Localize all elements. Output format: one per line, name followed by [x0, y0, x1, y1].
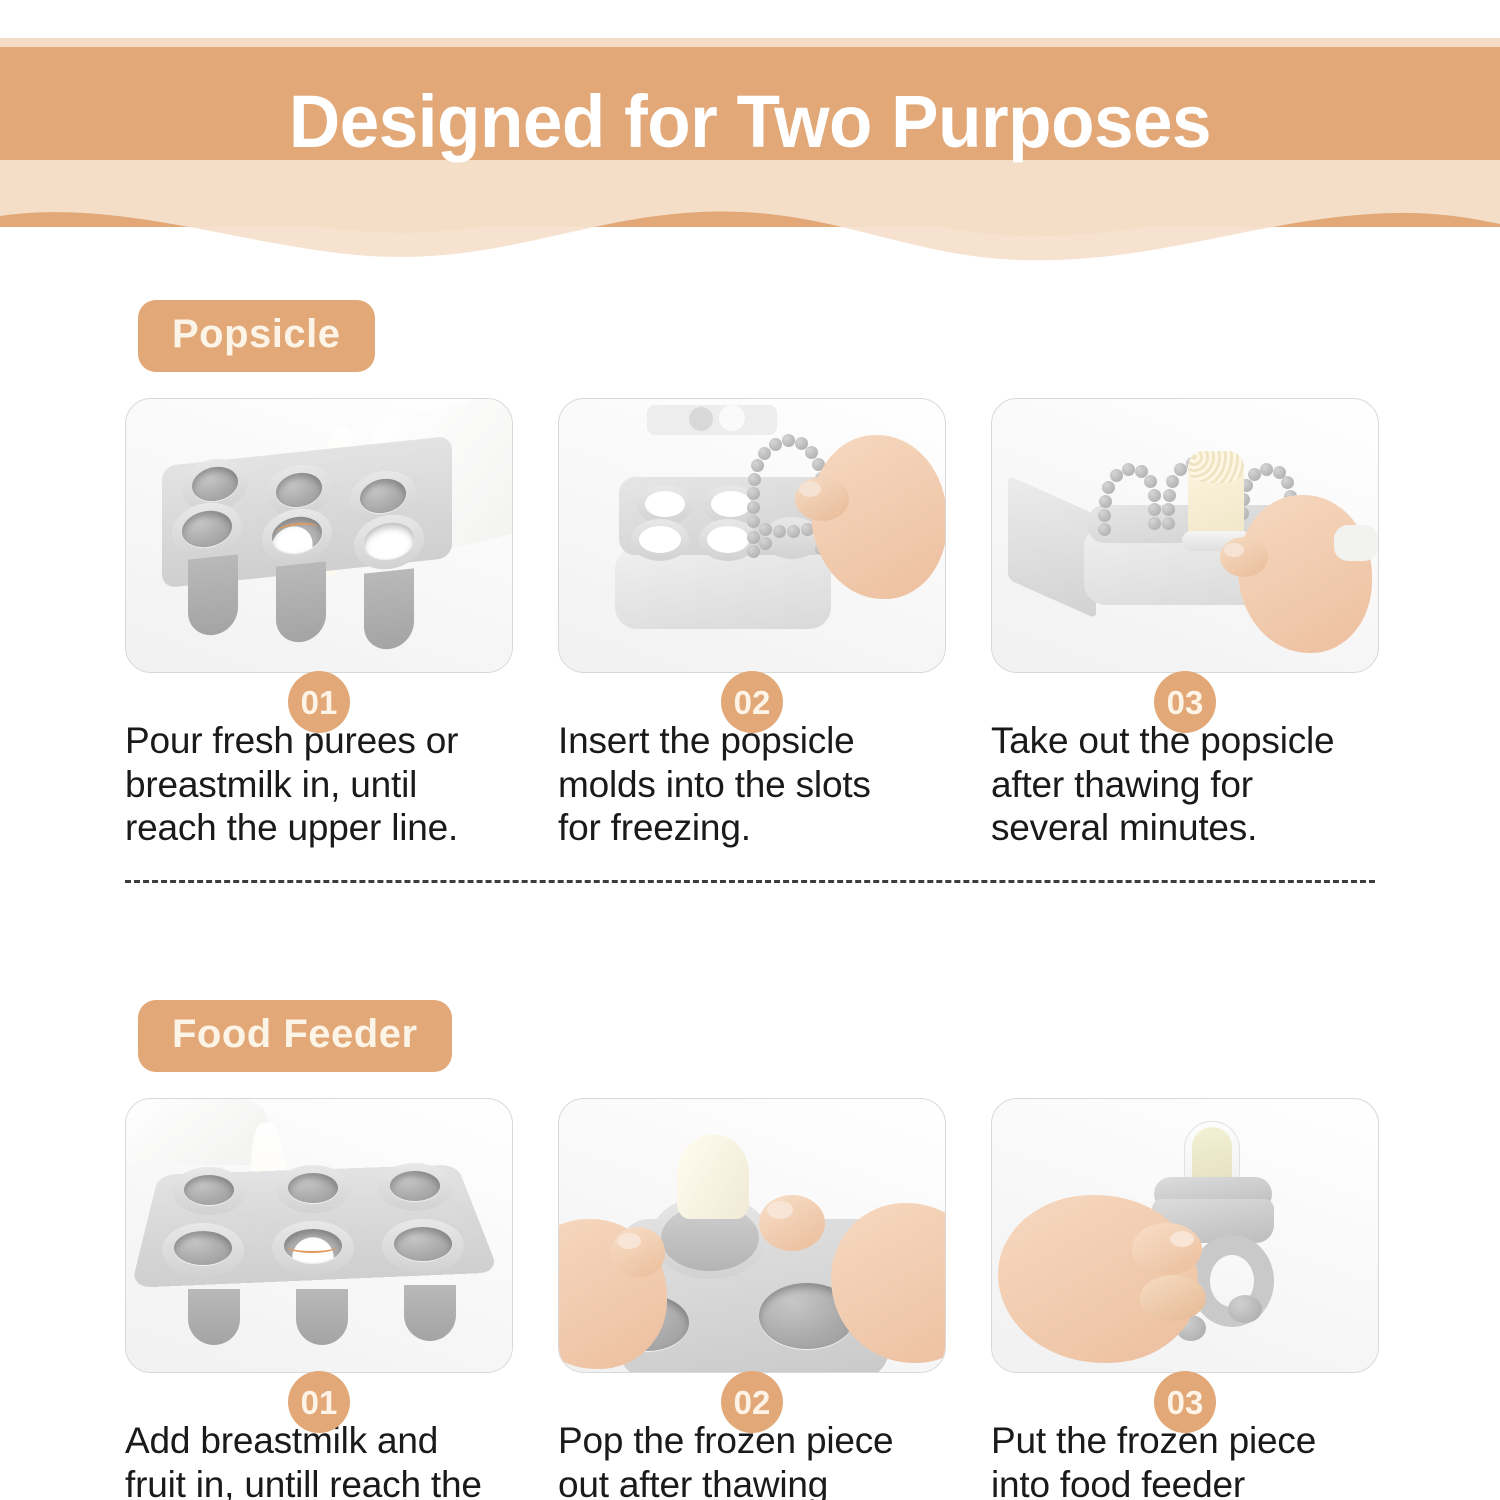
- frozen-piece: [677, 1135, 749, 1219]
- tray-leg: [296, 1289, 348, 1345]
- section-badge-food-feeder: Food Feeder: [138, 1000, 452, 1072]
- header-top-strip: [0, 38, 1500, 47]
- step-number-badge: 03: [1154, 1371, 1216, 1433]
- tray-well: [288, 1173, 338, 1203]
- step-caption: Take out the popsicle after thawing for …: [991, 719, 1379, 850]
- tray-well: [394, 1227, 452, 1261]
- tray-well: [184, 1175, 234, 1205]
- step-number-badge: 02: [721, 671, 783, 733]
- page-header: Designed for Two Purposes: [0, 0, 1500, 280]
- pouring-jug-icon: [125, 1099, 270, 1165]
- tray-well: [174, 1231, 232, 1265]
- header-wave-decoration: [0, 160, 1500, 280]
- step-caption: Insert the popsicle molds into the slots…: [558, 719, 946, 850]
- infographic-page: Designed for Two Purposes Popsicle: [0, 0, 1500, 1500]
- step-card-popsicle-01: 01 Pour fresh purees or breastmilk in, u…: [125, 398, 513, 850]
- step-card-feeder-01: 01 Add breastmilk and fruit in, untill r…: [125, 1098, 513, 1500]
- tray-leg: [188, 554, 238, 637]
- section-divider: [125, 880, 1375, 883]
- step-caption: Pour fresh purees or breastmilk in, unti…: [125, 719, 513, 850]
- page-title: Designed for Two Purposes: [30, 85, 1470, 159]
- step-card-feeder-03: 03 Put the frozen piece into food feeder…: [991, 1098, 1379, 1500]
- step-card-popsicle-02: 02 Insert the popsicle molds into the sl…: [558, 398, 946, 850]
- step-number-badge: 03: [1154, 671, 1216, 733]
- step-image-insert-mold-into-box: [558, 398, 946, 673]
- fill-line-marker: [286, 1239, 338, 1253]
- tray-leg: [276, 561, 326, 644]
- food-feeder-steps-row: 01 Add breastmilk and fruit in, untill r…: [125, 1098, 1380, 1500]
- tray-well: [390, 1171, 440, 1201]
- step-card-feeder-02: 02 Pop the frozen piece out after thawin…: [558, 1098, 946, 1500]
- step-number-badge: 02: [721, 1371, 783, 1433]
- step-number-badge: 01: [288, 1371, 350, 1433]
- tray-leg: [404, 1285, 456, 1341]
- step-image-take-out-popsicle: [991, 398, 1379, 673]
- step-image-pop-frozen-piece: [558, 1098, 946, 1373]
- popsicle-textured-tip: [1188, 451, 1244, 483]
- tray-leg: [364, 568, 414, 651]
- popsicle-steps-row: 01 Pour fresh purees or breastmilk in, u…: [125, 398, 1380, 850]
- step-card-popsicle-03: 03 Take out the popsicle after thawing f…: [991, 398, 1379, 850]
- step-image-tray-pour-feeder: [125, 1098, 513, 1373]
- section-badge-popsicle: Popsicle: [138, 300, 375, 372]
- step-image-tray-pour-popsicle: [125, 398, 513, 673]
- step-number-badge: 01: [288, 671, 350, 733]
- tray-leg: [188, 1289, 240, 1345]
- step-image-frozen-piece-in-feeder: [991, 1098, 1379, 1373]
